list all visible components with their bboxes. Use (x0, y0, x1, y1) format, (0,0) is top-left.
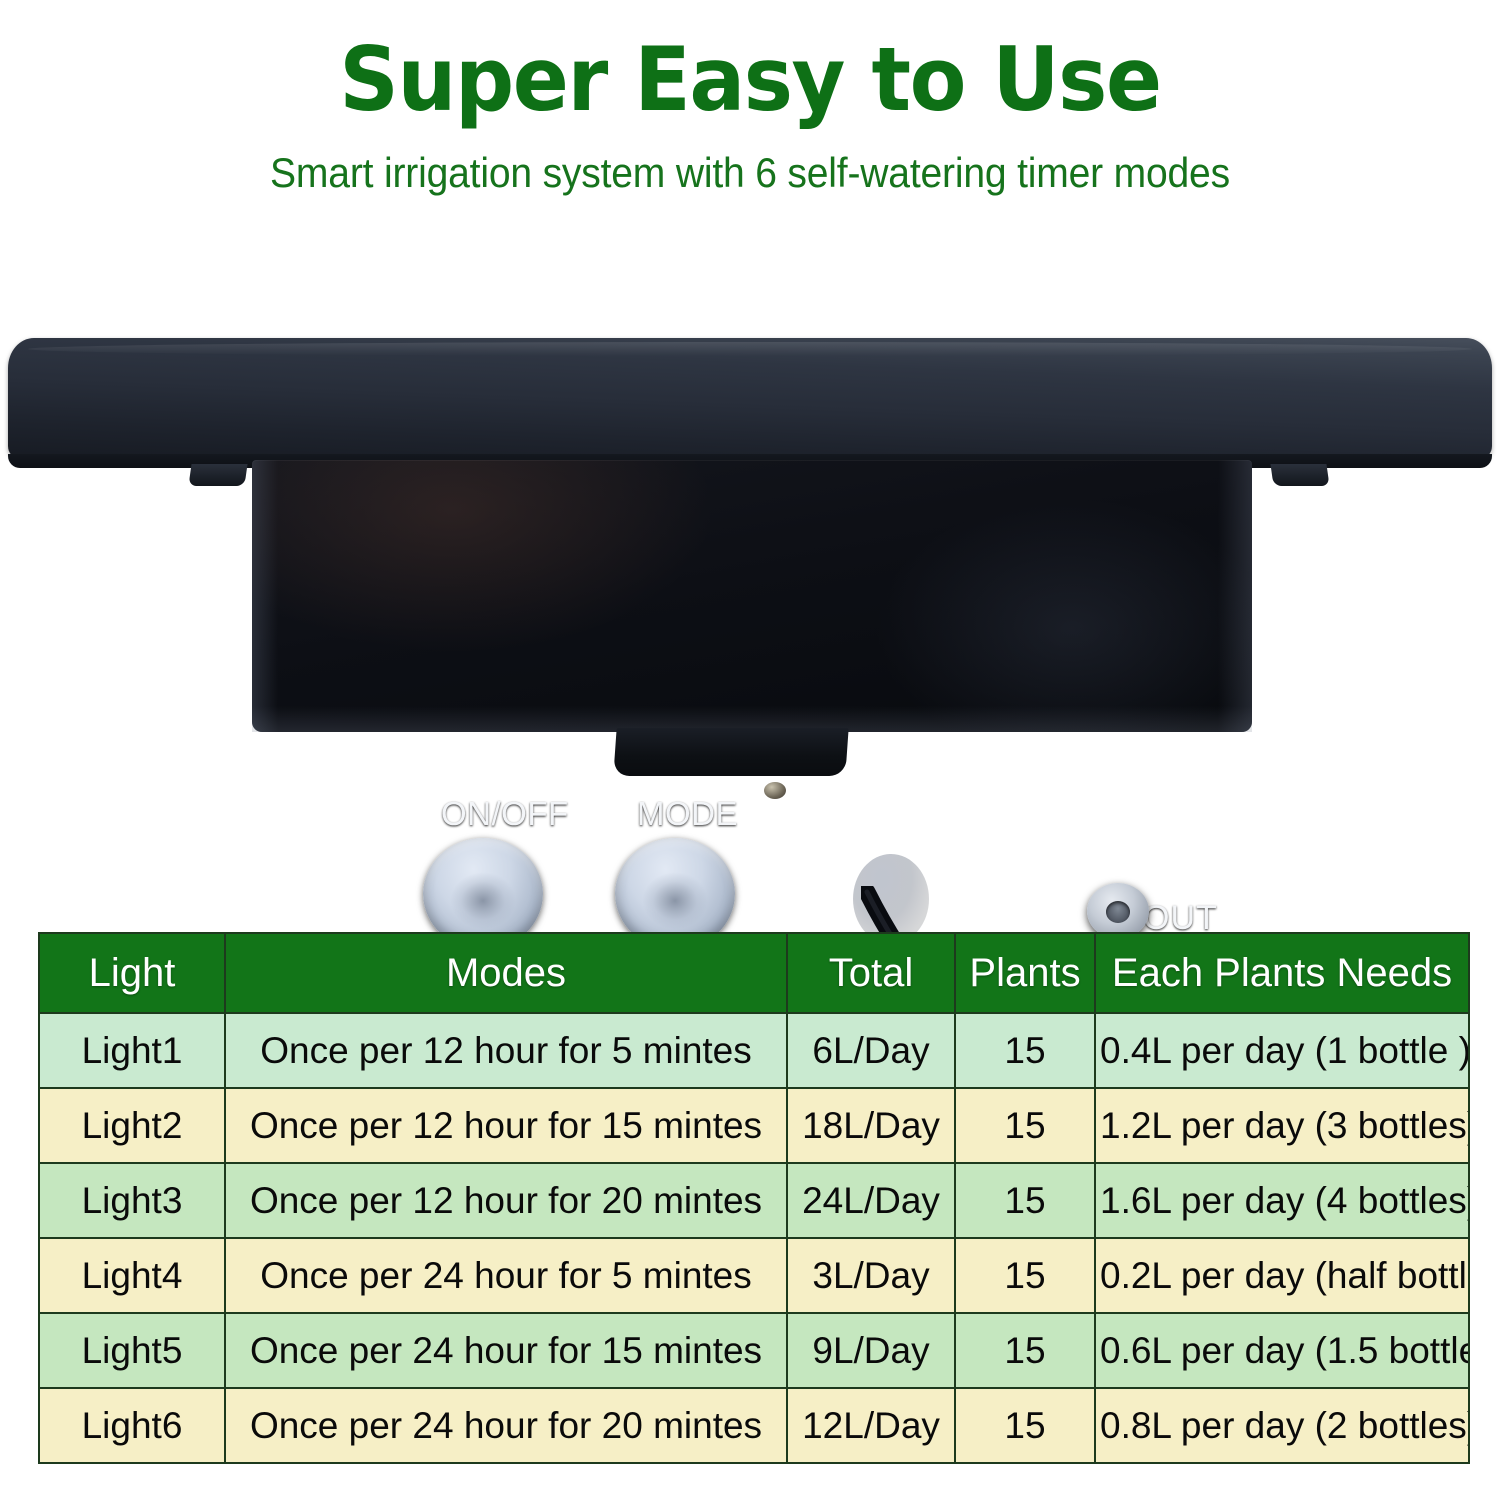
panel-edge-left (252, 460, 278, 732)
device-bottom-tab (613, 728, 848, 776)
device-solar-lid (8, 338, 1492, 458)
header-block: Super Easy to Use Smart irrigation syste… (0, 0, 1500, 197)
table-header-row: Light Modes Total Plants Each Plants Nee… (39, 933, 1469, 1013)
panel-edge-right (1218, 460, 1252, 732)
out-port[interactable] (1087, 883, 1149, 939)
cell-needs: 1.6L per day (4 bottles) (1095, 1163, 1469, 1238)
cell-light: Light5 (39, 1313, 225, 1388)
table-row: Light3 Once per 12 hour for 20 mintes 24… (39, 1163, 1469, 1238)
cell-total: 6L/Day (787, 1013, 955, 1088)
table-row: Light2 Once per 12 hour for 15 mintes 18… (39, 1088, 1469, 1163)
column-header-modes: Modes (225, 933, 787, 1013)
column-header-light: Light (39, 933, 225, 1013)
device-control-panel (252, 460, 1252, 732)
modes-table: Light Modes Total Plants Each Plants Nee… (38, 932, 1470, 1464)
cell-plants: 15 (955, 1013, 1095, 1088)
cell-needs: 0.2L per day (half bottle) (1095, 1238, 1469, 1313)
cell-needs: 0.4L per day (1 bottle ) (1095, 1013, 1469, 1088)
screw-icon (764, 782, 786, 799)
device-mount-clip-right (1270, 464, 1329, 486)
cell-needs: 0.8L per day (2 bottles) (1095, 1388, 1469, 1463)
cell-plants: 15 (955, 1088, 1095, 1163)
cell-total: 12L/Day (787, 1388, 955, 1463)
page-title: Super Easy to Use (45, 0, 1455, 126)
table-row: Light1 Once per 12 hour for 5 mintes 6L/… (39, 1013, 1469, 1088)
column-header-plants: Plants (955, 933, 1095, 1013)
cell-total: 24L/Day (787, 1163, 955, 1238)
cell-total: 18L/Day (787, 1088, 955, 1163)
cell-mode: Once per 12 hour for 15 mintes (225, 1088, 787, 1163)
column-header-needs: Each Plants Needs (1095, 933, 1469, 1013)
cell-light: Light2 (39, 1088, 225, 1163)
cell-plants: 15 (955, 1388, 1095, 1463)
cell-mode: Once per 24 hour for 15 mintes (225, 1313, 787, 1388)
cell-plants: 15 (955, 1238, 1095, 1313)
table-row: Light5 Once per 24 hour for 15 mintes 9L… (39, 1313, 1469, 1388)
page-subtitle: Smart irrigation system with 6 self-wate… (53, 126, 1448, 196)
cell-light: Light4 (39, 1238, 225, 1313)
mode-label: MODE (637, 795, 738, 833)
cell-mode: Once per 24 hour for 20 mintes (225, 1388, 787, 1463)
modes-table-wrapper: Light Modes Total Plants Each Plants Nee… (38, 932, 1468, 1464)
device-product-photo: ON/OFF MODE LEVEL OUT IN watering freque… (0, 330, 1500, 800)
cell-light: Light6 (39, 1388, 225, 1463)
table-row: Light6 Once per 24 hour for 20 mintes 12… (39, 1388, 1469, 1463)
cell-light: Light3 (39, 1163, 225, 1238)
column-header-total: Total (787, 933, 955, 1013)
cell-total: 9L/Day (787, 1313, 955, 1388)
cell-light: Light1 (39, 1013, 225, 1088)
cell-needs: 1.2L per day (3 bottles) (1095, 1088, 1469, 1163)
on-off-label: ON/OFF (441, 795, 569, 833)
cell-mode: Once per 12 hour for 20 mintes (225, 1163, 787, 1238)
cell-mode: Once per 24 hour for 5 mintes (225, 1238, 787, 1313)
cell-plants: 15 (955, 1313, 1095, 1388)
cell-total: 3L/Day (787, 1238, 955, 1313)
cell-plants: 15 (955, 1163, 1095, 1238)
table-row: Light4 Once per 24 hour for 5 mintes 3L/… (39, 1238, 1469, 1313)
level-knob[interactable] (853, 854, 929, 944)
device-mount-clip-left (188, 464, 247, 486)
cell-needs: 0.6L per day (1.5 bottles) (1095, 1313, 1469, 1388)
cell-mode: Once per 12 hour for 5 mintes (225, 1013, 787, 1088)
